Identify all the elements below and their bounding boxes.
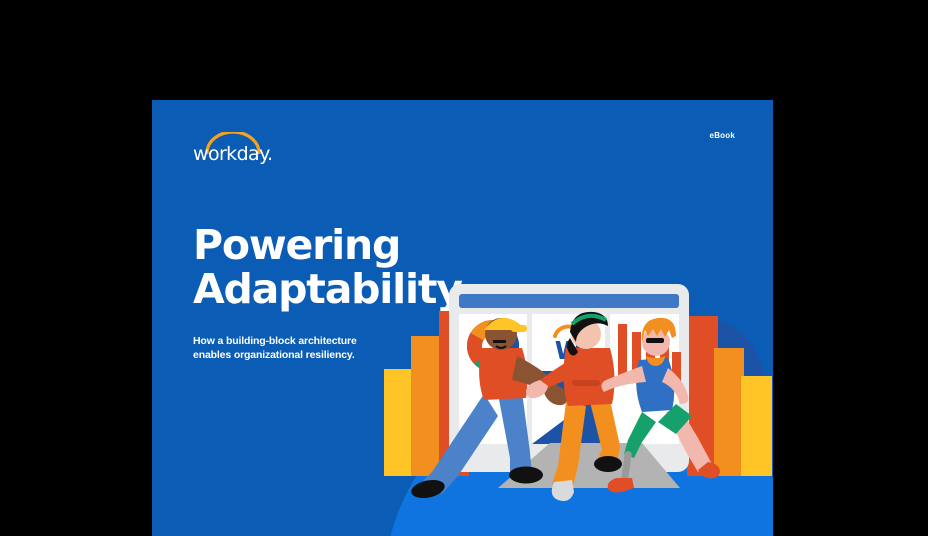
ebook-cover-card: workday. eBook Powering Adaptability How… — [152, 100, 773, 536]
ebook-badge: eBook — [710, 131, 735, 140]
page-title-line1: Powering — [193, 221, 400, 269]
logo-period: . — [267, 143, 272, 165]
page-subtitle-line2: enables organizational resiliency. — [193, 349, 355, 361]
screenshot-canvas: workday. eBook Powering Adaptability How… — [0, 0, 928, 536]
page-subtitle: How a building-block architecture enable… — [193, 334, 383, 362]
cover-illustration: W — [380, 276, 773, 536]
page-subtitle-line1: How a building-block architecture — [193, 335, 357, 347]
workday-logo-text: workday. — [193, 145, 272, 164]
workday-logo[interactable]: workday. — [193, 132, 283, 168]
